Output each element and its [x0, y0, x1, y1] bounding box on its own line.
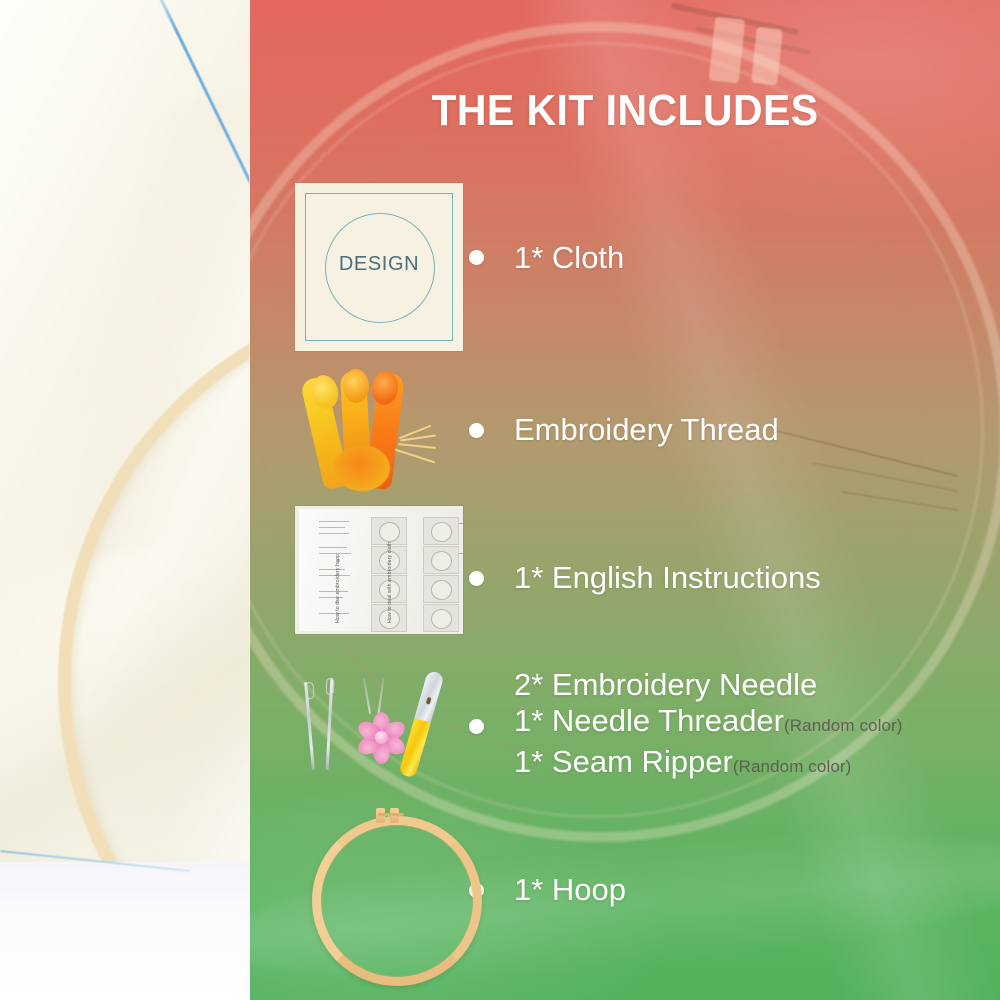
threader-wire-right: [378, 678, 384, 714]
hoop-label: 1* Hoop: [514, 872, 626, 908]
threader-label: 1* Needle Threader(Random color): [514, 703, 903, 744]
thread-label: Embroidery Thread: [514, 412, 779, 448]
sheet-step-image: [423, 604, 459, 632]
ripper-label-text: 1* Seam Ripper: [514, 744, 733, 779]
cloth-label: 1* Cloth: [514, 240, 624, 276]
tools-image: [292, 664, 467, 784]
wooden-hoop-image: [312, 816, 482, 986]
hoop-thumbnail: [250, 810, 460, 970]
cloth-label-group: 1* Cloth: [514, 240, 624, 276]
threader-label-note: (Random color): [784, 716, 903, 735]
sheet-heading-3: How to deal with embroidery cloth: [387, 515, 393, 623]
needle-eye-1: [305, 682, 314, 700]
hoop-clamp: [376, 808, 406, 824]
kit-item-thread: Embroidery Thread: [250, 370, 1000, 490]
swatch-design-label: DESIGN: [295, 253, 463, 276]
kit-item-cloth: DESIGN 1* Cloth: [250, 205, 1000, 310]
instructions-label-group: 1* English Instructions: [514, 560, 821, 596]
bullet-icon: [469, 719, 484, 734]
bullet-icon: [469, 250, 484, 265]
sheet-step-image: [423, 517, 459, 545]
sheet-heading-2: How to use embroidery hoop: [335, 515, 341, 623]
product-infographic: THE KIT INCLUDES DESIGN 1* Cloth: [0, 0, 1000, 1000]
needle-eye-2: [326, 678, 335, 695]
sheet-step-image: [423, 546, 459, 574]
instructions-label: 1* English Instructions: [514, 560, 821, 596]
loose-strand-3: [398, 443, 436, 449]
sheet-column-3: How to deal with embroidery cloth: [409, 513, 459, 627]
sheet-paper: How to thread and separate yarn: [299, 509, 459, 631]
bullet-icon: [469, 571, 484, 586]
loose-strand-4: [395, 449, 435, 463]
design-cloth-swatch: DESIGN: [295, 183, 463, 351]
thread-label-group: Embroidery Thread: [514, 412, 779, 448]
threader-center: [375, 731, 388, 744]
ripper-label: 1* Seam Ripper(Random color): [514, 744, 903, 785]
thread-knot: [334, 445, 390, 491]
thread-skeins-image: [298, 367, 438, 493]
needle-label: 2* Embroidery Needle: [514, 667, 903, 703]
bullet-icon: [469, 423, 484, 438]
sheet-column-2: How to use embroidery hoop: [357, 513, 407, 627]
cloth-thumbnail: DESIGN: [250, 205, 460, 310]
instruction-sheet-image: How to thread and separate yarn: [295, 506, 463, 634]
kit-contents-panel: THE KIT INCLUDES DESIGN 1* Cloth: [250, 0, 1000, 1000]
kit-item-tools: 2* Embroidery Needle 1* Needle Threader(…: [250, 662, 1000, 790]
threader-wire-left: [363, 678, 371, 714]
thread-thumbnail: [250, 370, 460, 490]
ripper-label-note: (Random color): [733, 757, 852, 776]
sheet-step-image: [423, 575, 459, 603]
hoop-label-group: 1* Hoop: [514, 872, 626, 908]
instructions-thumbnail: How to thread and separate yarn: [250, 512, 460, 644]
tools-thumbnail: [250, 662, 460, 790]
kit-item-hoop: 1* Hoop: [250, 810, 1000, 970]
hoop-clamp-screw: [378, 813, 404, 816]
kit-item-instructions: How to thread and separate yarn: [250, 512, 1000, 644]
left-photo-panel: [0, 0, 250, 1000]
tools-label-group: 2* Embroidery Needle 1* Needle Threader(…: [514, 667, 903, 785]
page-title: THE KIT INCLUDES: [276, 86, 974, 136]
white-surface: [0, 862, 250, 1000]
sheet-column-1: How to thread and separate yarn: [305, 513, 355, 627]
needle-label-text: 2* Embroidery Needle: [514, 667, 817, 702]
threader-label-text: 1* Needle Threader: [514, 703, 784, 738]
